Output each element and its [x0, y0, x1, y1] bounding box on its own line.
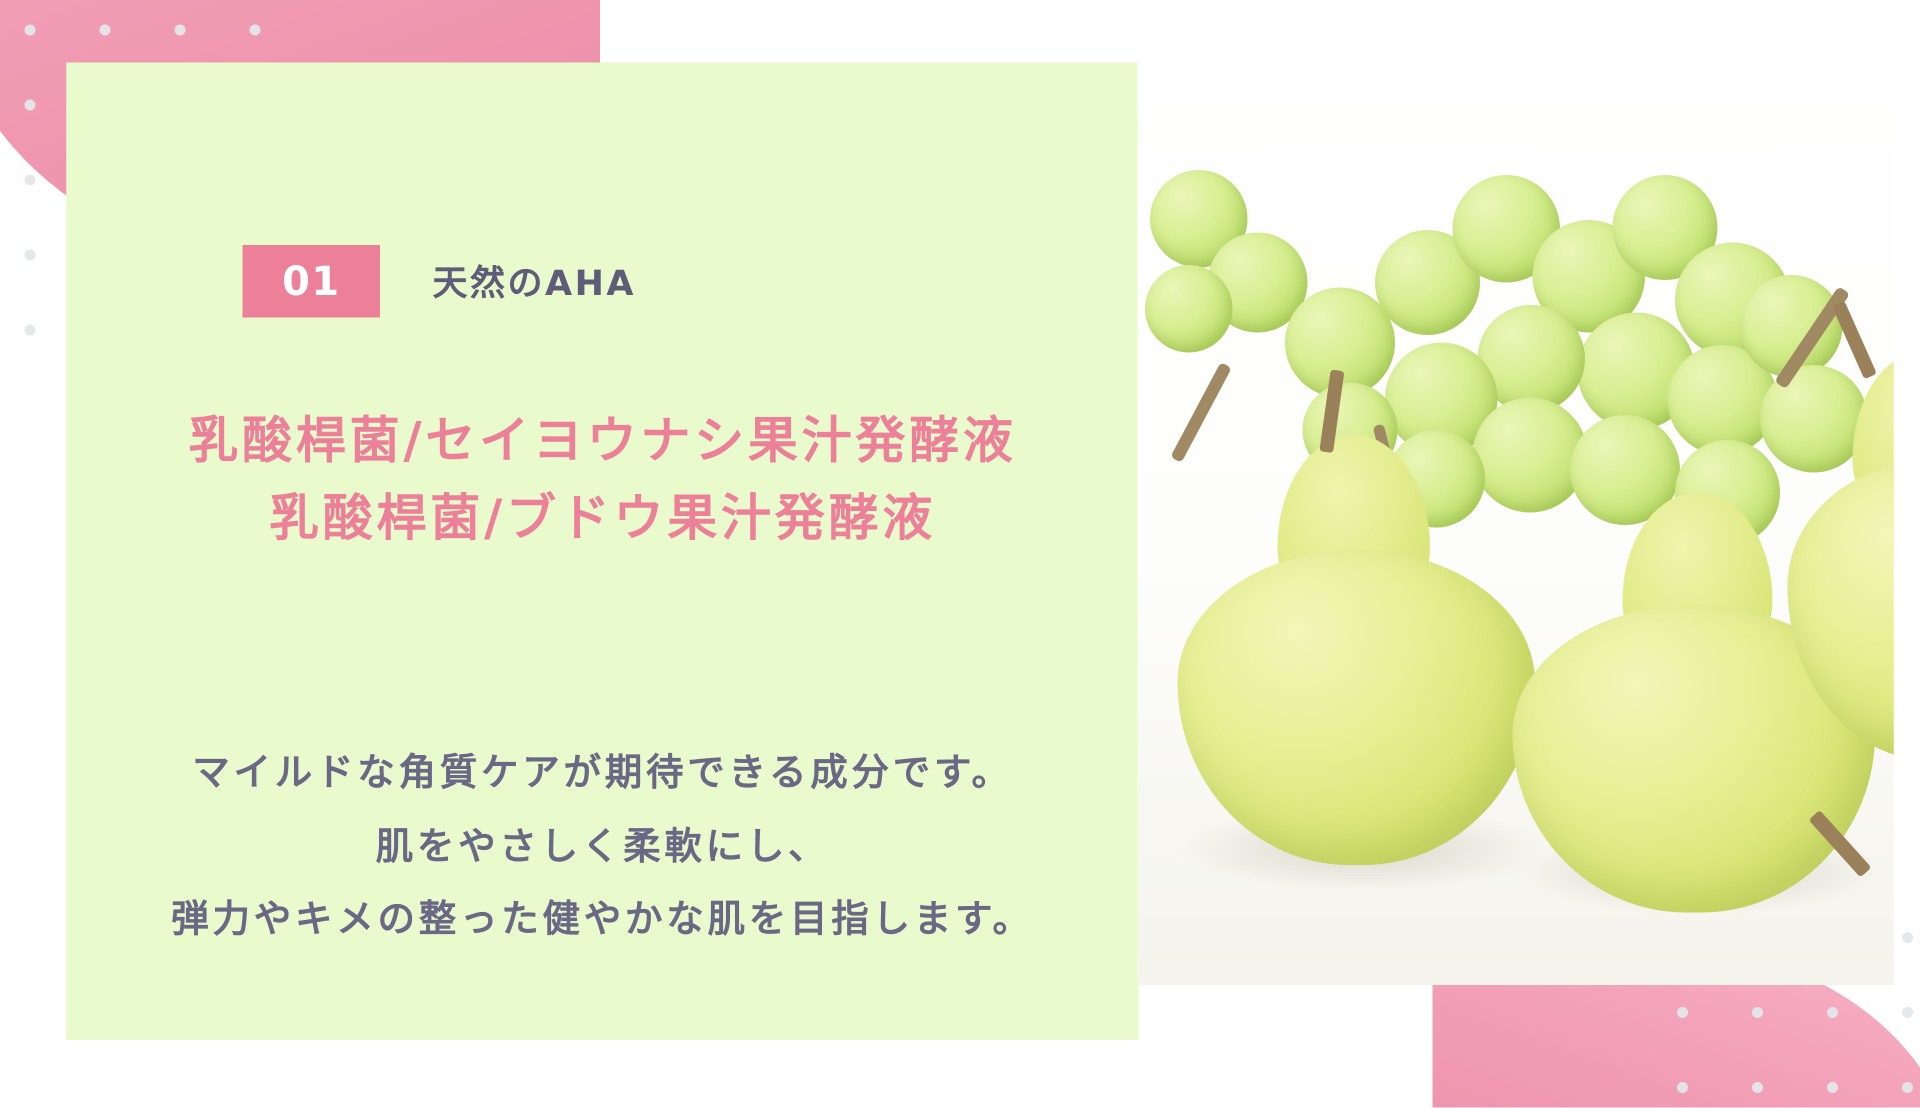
- step-header: 01 天然のAHA: [66, 245, 1139, 318]
- slide-canvas: 01 天然のAHA 乳酸桿菌/セイヨウナシ果汁発酵液 乳酸桿菌/ブドウ果汁発酵液…: [0, 0, 1920, 1108]
- pear-body: [1178, 550, 1536, 865]
- pear: [1170, 430, 1545, 855]
- grape: [1145, 265, 1233, 353]
- fruit-photo: [1138, 55, 1894, 985]
- description-line-2: 肌をやさしく柔軟にし、: [66, 811, 1139, 884]
- pear: [1788, 353, 1894, 753]
- content-panel: 01 天然のAHA 乳酸桿菌/セイヨウナシ果汁発酵液 乳酸桿菌/ブドウ果汁発酵液…: [66, 63, 1139, 1041]
- headline-line-1: 乳酸桿菌/セイヨウナシ果汁発酵液: [66, 403, 1139, 481]
- pear-body: [1788, 460, 1894, 760]
- description-line-3: 弾力やキメの整った健やかな肌を目指します。: [66, 884, 1139, 957]
- step-title: 天然のAHA: [433, 256, 636, 306]
- description-line-1: マイルドな角質ケアが期待できる成分です。: [66, 738, 1139, 811]
- description-text: マイルドな角質ケアが期待できる成分です。 肌をやさしく柔軟にし、 弾力やキメの整…: [66, 738, 1139, 957]
- ingredient-headline: 乳酸桿菌/セイヨウナシ果汁発酵液 乳酸桿菌/ブドウ果汁発酵液: [66, 403, 1139, 558]
- headline-line-2: 乳酸桿菌/ブドウ果汁発酵液: [66, 480, 1139, 558]
- step-number-badge: 01: [243, 245, 381, 318]
